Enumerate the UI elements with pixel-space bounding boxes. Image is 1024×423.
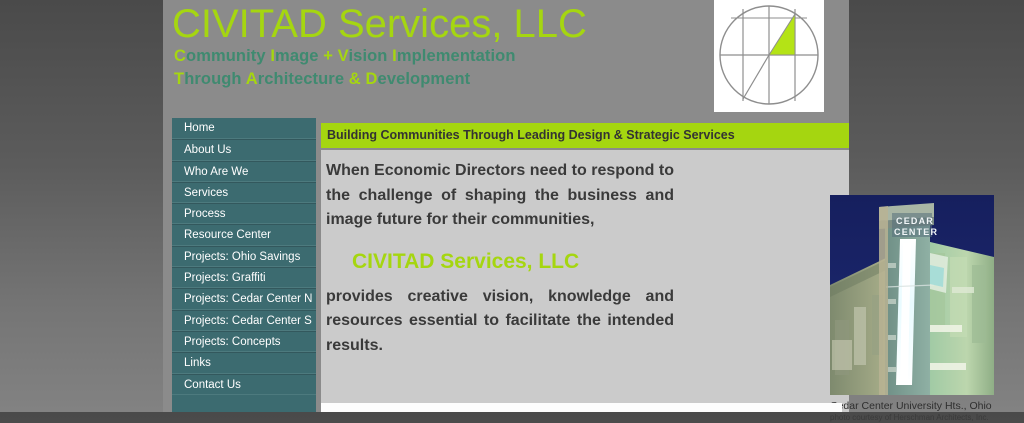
tagline-banner: Building Communities Through Leading Des… [321, 123, 849, 148]
tagline-1-seg-7: ision [348, 47, 392, 65]
sidebar-item-label: Resource Center [184, 229, 271, 241]
sidebar-item-projects-graffiti[interactable]: Projects: Graffiti [172, 267, 316, 288]
sidebar-item-label: Projects: Cedar Center S [184, 315, 312, 327]
sidebar-item-projects-cedar-center-s[interactable]: Projects: Cedar Center S [172, 310, 316, 331]
paragraph-1: When Economic Directors need to respond … [326, 159, 674, 233]
site-header: CIVITAD Services, LLC Community Image + … [163, 0, 849, 118]
cedar-center-building-photo: CEDAR CENTER [830, 195, 994, 395]
intro-copy: When Economic Directors need to respond … [326, 159, 674, 358]
tagline-2-seg-3: rchitecture [258, 70, 349, 88]
photo-credit: photo courtesy of Herschman Architects, … [830, 412, 1024, 423]
tagline-2-seg-6: D [366, 70, 378, 88]
tagline-line-2: Through Architecture & Development [174, 70, 470, 89]
body-area: HomeAbout UsWho Are WeServicesProcessRes… [163, 118, 849, 412]
sidebar-item-label: Home [184, 122, 215, 134]
tagline-2-seg-1: hrough [184, 70, 246, 88]
content-panel: When Economic Directors need to respond … [321, 150, 849, 412]
tagline-2-seg-7: evelopment [378, 70, 471, 88]
tagline-2-seg-0: T [174, 70, 184, 88]
sidebar-item-label: Process [184, 208, 226, 220]
sidebar-item-label: Projects: Graffiti [184, 272, 266, 284]
sidebar-item-label: About Us [184, 144, 231, 156]
sidebar-item-label: Projects: Concepts [184, 336, 281, 348]
sidebar-item-label: Projects: Cedar Center N [184, 293, 312, 305]
sidebar-item-who-are-we[interactable]: Who Are We [172, 161, 316, 182]
main-content: Building Communities Through Leading Des… [321, 118, 849, 412]
tagline-2-seg-4: & [349, 70, 361, 88]
sidebar-item-label: Who Are We [184, 166, 248, 178]
svg-text:CENTER: CENTER [894, 227, 938, 237]
project-photo: CEDAR CENTER [830, 195, 994, 395]
sidebar-item-label: Links [184, 357, 211, 369]
site-page: CIVITAD Services, LLC Community Image + … [163, 0, 849, 412]
svg-text:CEDAR: CEDAR [896, 216, 934, 226]
company-name-highlight: CIVITAD Services, LLC [326, 233, 674, 285]
sidebar-nav: HomeAbout UsWho Are WeServicesProcessRes… [172, 118, 316, 412]
sidebar-item-label: Contact Us [184, 379, 241, 391]
sidebar-item-home[interactable]: Home [172, 118, 316, 139]
tagline-1-seg-9: mplementation [397, 47, 516, 65]
sidebar-item-links[interactable]: Links [172, 352, 316, 373]
sidebar-item-about-us[interactable]: About Us [172, 139, 316, 160]
tagline-1-seg-0: C [174, 47, 186, 65]
circle-grid-logo-icon [714, 0, 824, 112]
logo [714, 0, 824, 112]
sidebar-item-projects-concepts[interactable]: Projects: Concepts [172, 331, 316, 352]
sidebar-item-process[interactable]: Process [172, 203, 316, 224]
paragraph-2: provides creative vision, knowledge and … [326, 285, 674, 359]
tagline-1-seg-3: mage [275, 47, 323, 65]
tagline-line-1: Community Image + Vision Implementation [174, 47, 516, 66]
sidebar-item-projects-cedar-center-n[interactable]: Projects: Cedar Center N [172, 288, 316, 309]
page-title: CIVITAD Services, LLC [172, 3, 587, 45]
sidebar-item-label: Services [184, 187, 228, 199]
tagline-1-seg-1: ommunity [186, 47, 270, 65]
sidebar-item-label: Projects: Ohio Savings [184, 251, 300, 263]
tagline-1-seg-6: V [338, 47, 349, 65]
tagline-2-seg-2: A [246, 70, 258, 88]
bottom-panel [321, 403, 842, 412]
sidebar-item-projects-ohio-savings[interactable]: Projects: Ohio Savings [172, 246, 316, 267]
sidebar-item-services[interactable]: Services [172, 182, 316, 203]
sidebar-item-resource-center[interactable]: Resource Center [172, 224, 316, 245]
tagline-1-seg-4: + [323, 47, 333, 65]
sidebar-item-contact-us[interactable]: Contact Us [172, 374, 316, 395]
